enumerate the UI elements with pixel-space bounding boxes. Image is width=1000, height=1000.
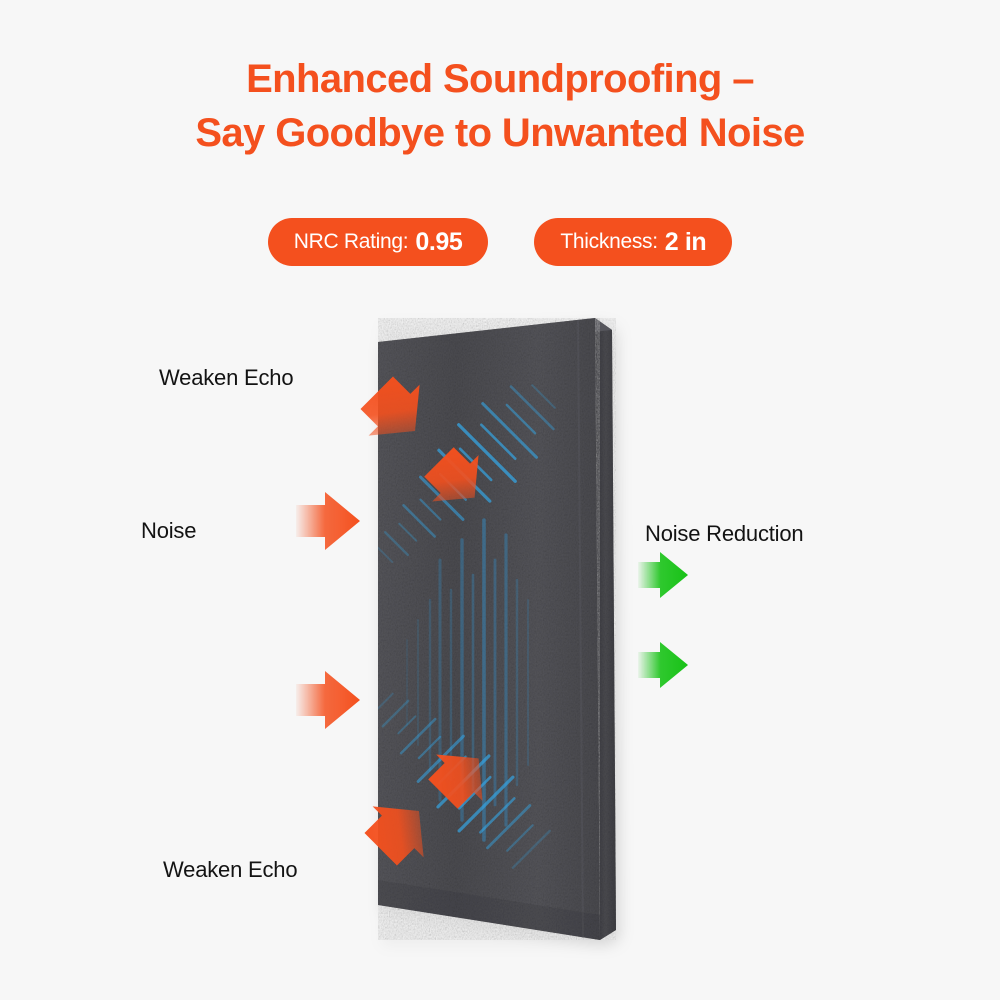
spec-badge-row: NRC Rating: 0.95 Thickness: 2 in (0, 218, 1000, 266)
badge-thickness: Thickness: 2 in (534, 218, 732, 266)
badge-nrc-rating: NRC Rating: 0.95 (268, 218, 489, 266)
reduction-arrow-upper (638, 552, 688, 598)
noise-waveform-left (122, 416, 375, 824)
label-noise-reduction: Noise Reduction (645, 521, 803, 547)
headline-line-2: Say Goodbye to Unwanted Noise (0, 106, 1000, 160)
product-infographic: Enhanced Soundproofing – Say Goodbye to … (0, 0, 1000, 1000)
label-noise: Noise (141, 518, 196, 544)
reduction-arrow-lower (638, 642, 688, 688)
headline-line-1: Enhanced Soundproofing – (246, 57, 754, 101)
page-title: Enhanced Soundproofing – Say Goodbye to … (0, 52, 1000, 160)
label-weaken-echo-top: Weaken Echo (159, 365, 293, 391)
badge-thickness-value: 2 in (665, 228, 706, 257)
label-weaken-echo-bottom: Weaken Echo (163, 857, 297, 883)
badge-thickness-label: Thickness: (560, 230, 657, 254)
badge-nrc-label: NRC Rating: (294, 230, 409, 254)
badge-nrc-value: 0.95 (415, 228, 462, 257)
